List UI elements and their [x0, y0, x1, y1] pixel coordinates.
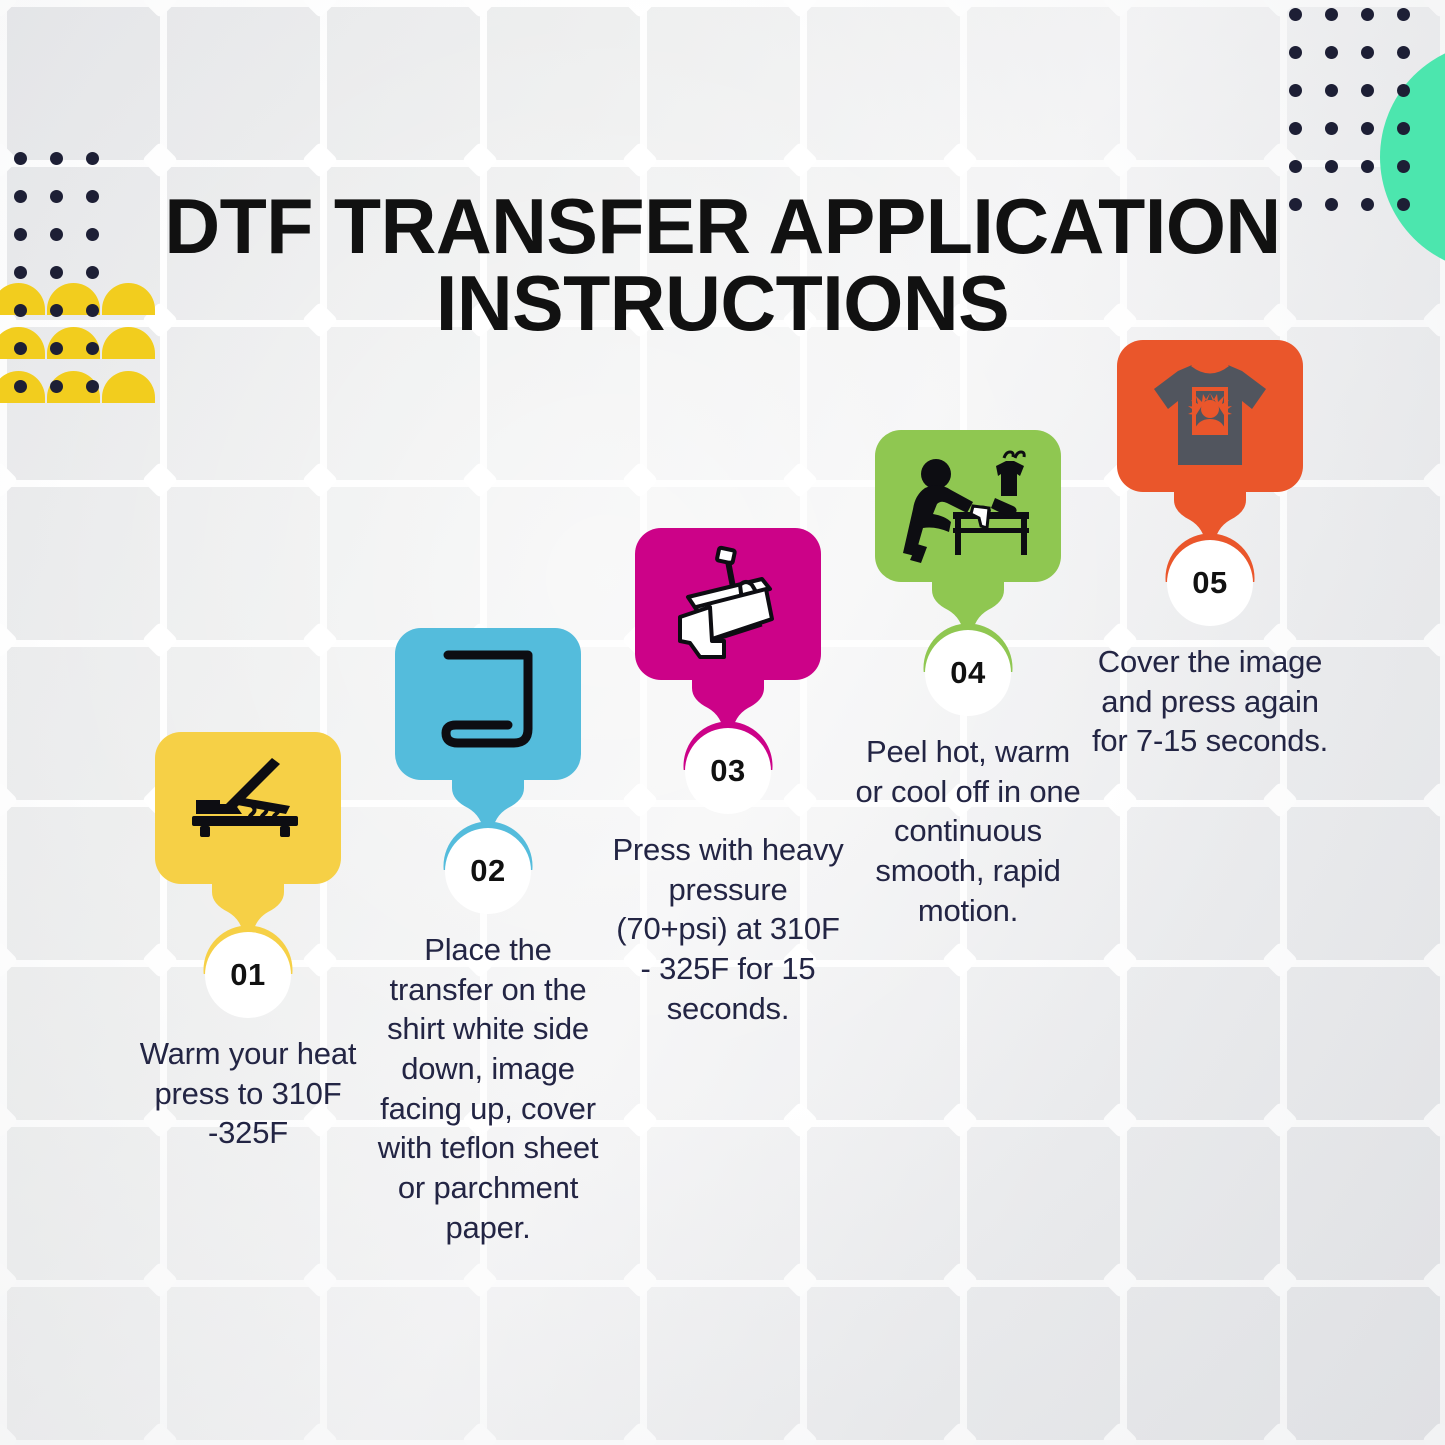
grid-node-diamond [142, 142, 179, 179]
grid-node-diamond [1422, 622, 1445, 659]
grid-node-diamond [942, 0, 979, 18]
decorative-dot [50, 380, 63, 393]
grid-node-diamond [1262, 1262, 1299, 1299]
step-02-badge: 02 [445, 828, 531, 914]
decorative-dot [1289, 84, 1302, 97]
grid-node-diamond [1422, 1262, 1445, 1299]
grid-node-diamond [0, 142, 18, 179]
step-01-card [155, 732, 341, 884]
decorative-dot [14, 380, 27, 393]
grid-node-diamond [1102, 1102, 1139, 1139]
grid-node-diamond [1262, 1102, 1299, 1139]
grid-node-diamond [1422, 1422, 1445, 1445]
grid-node-diamond [1262, 1422, 1299, 1445]
step-03-caption: Press with heavy pressure (70+psi) at 31… [609, 830, 847, 1028]
grid-node-diamond [782, 1262, 819, 1299]
decorative-dot [50, 342, 63, 355]
grid-node-diamond [462, 462, 499, 499]
step-02-caption: Place the transfer on the shirt white si… [369, 930, 607, 1247]
grid-node-diamond [142, 1262, 179, 1299]
grid-node-diamond [0, 1262, 18, 1299]
grid-node-diamond [142, 462, 179, 499]
grid-node-diamond [1102, 1262, 1139, 1299]
decorative-dot [1361, 8, 1374, 21]
step-03-number: 03 [710, 753, 745, 789]
infographic-canvas: DTF TRANSFER APPLICATION INSTRUCTIONS [0, 0, 1445, 1445]
grid-node-diamond [622, 1102, 659, 1139]
grid-node-diamond [1102, 942, 1139, 979]
grid-node-diamond [302, 622, 339, 659]
step-02-number: 02 [470, 853, 505, 889]
step-02-card [395, 628, 581, 780]
transfer-sheet-icon [432, 649, 544, 759]
grid-node-diamond [942, 1262, 979, 1299]
grid-node-diamond [1422, 462, 1445, 499]
grid-node-diamond [462, 142, 499, 179]
grid-node-diamond [302, 142, 339, 179]
decorative-dot [86, 380, 99, 393]
decorative-dot [1325, 122, 1338, 135]
grid-node-diamond [0, 622, 18, 659]
grid-node-diamond [782, 0, 819, 18]
grid-node-diamond [782, 142, 819, 179]
decorative-dot [1289, 8, 1302, 21]
step-01-badge: 01 [205, 932, 291, 1018]
heat-press-machine-icon [666, 545, 790, 663]
heat-press-open-icon [186, 756, 310, 860]
step-04-badge: 04 [925, 630, 1011, 716]
grid-node-diamond [622, 462, 659, 499]
grid-node-diamond [782, 462, 819, 499]
grid-node-diamond [462, 1422, 499, 1445]
grid-node-diamond [302, 1262, 339, 1299]
grid-node-diamond [942, 142, 979, 179]
grid-node-diamond [622, 1422, 659, 1445]
grid-node-diamond [0, 782, 18, 819]
step-02: 02 Place the transfer on the shirt white… [368, 628, 608, 1247]
grid-node-diamond [1262, 142, 1299, 179]
grid-node-diamond [462, 0, 499, 18]
step-01-number: 01 [230, 957, 265, 993]
grid-node-diamond [1262, 942, 1299, 979]
grid-node-diamond [1422, 782, 1445, 819]
grid-node-diamond [462, 1262, 499, 1299]
grid-node-diamond [942, 1102, 979, 1139]
page-title-line-2: INSTRUCTIONS [7, 265, 1438, 342]
grid-node-diamond [622, 1262, 659, 1299]
decorative-dot [1289, 122, 1302, 135]
decorative-dot [1325, 8, 1338, 21]
grid-node-diamond [782, 1102, 819, 1139]
step-03-card [635, 528, 821, 680]
grid-node-diamond [622, 0, 659, 18]
decorative-dot [1325, 84, 1338, 97]
grid-node-diamond [0, 462, 18, 499]
decorative-dot [1361, 122, 1374, 135]
grid-node-diamond [942, 942, 979, 979]
step-04-number: 04 [950, 655, 985, 691]
step-05-number: 05 [1192, 565, 1227, 601]
step-03-badge: 03 [685, 728, 771, 814]
decorative-dot [50, 152, 63, 165]
grid-node-diamond [302, 462, 339, 499]
step-01: 01 Warm your heat press to 310F -325F [128, 732, 368, 1153]
grid-node-diamond [782, 1422, 819, 1445]
decorative-dot [1361, 160, 1374, 173]
step-04-caption: Peel hot, warm or cool off in one contin… [849, 732, 1087, 930]
grid-node-diamond [142, 1422, 179, 1445]
grid-node-diamond [1102, 782, 1139, 819]
grid-node-diamond [1262, 782, 1299, 819]
grid-node-diamond [0, 942, 18, 979]
decorative-dot [1289, 160, 1302, 173]
grid-node-diamond [1102, 1422, 1139, 1445]
semicircle-shape [102, 371, 155, 403]
grid-node-diamond [1422, 0, 1445, 18]
decorative-dot [1397, 46, 1410, 59]
grid-node-diamond [302, 0, 339, 18]
grid-node-diamond [1422, 942, 1445, 979]
grid-node-diamond [1262, 0, 1299, 18]
page-title: DTF TRANSFER APPLICATION INSTRUCTIONS [7, 188, 1438, 342]
semicircle-shape [0, 371, 45, 403]
decorative-dot [14, 152, 27, 165]
step-04: 04 Peel hot, warm or cool off in one con… [848, 430, 1088, 930]
grid-node-diamond [0, 1422, 18, 1445]
step-01-caption: Warm your heat press to 310F -325F [129, 1034, 367, 1153]
peel-transfer-person-icon [903, 448, 1033, 564]
semicircle-row [0, 371, 157, 403]
grid-node-diamond [1102, 0, 1139, 18]
step-04-card [875, 430, 1061, 582]
decorative-dot [1325, 160, 1338, 173]
decorative-dot [86, 152, 99, 165]
grid-node-diamond [0, 0, 18, 18]
page-title-line-1: DTF TRANSFER APPLICATION [7, 188, 1438, 265]
grid-node-diamond [142, 0, 179, 18]
decorative-dot [1361, 46, 1374, 59]
grid-node-diamond [1102, 142, 1139, 179]
printed-tshirt-icon [1148, 357, 1272, 475]
grid-node-diamond [942, 1422, 979, 1445]
step-05-card [1117, 340, 1303, 492]
decorative-dot [1325, 46, 1338, 59]
grid-node-diamond [1422, 1102, 1445, 1139]
semicircle-shape [47, 371, 100, 403]
step-03: 03 Press with heavy pressure (70+psi) at… [608, 528, 848, 1028]
step-05: 05 Cover the image and press again for 7… [1090, 340, 1330, 761]
grid-node-diamond [0, 1102, 18, 1139]
grid-node-diamond [302, 1422, 339, 1445]
step-05-caption: Cover the image and press again for 7-15… [1091, 642, 1329, 761]
step-05-badge: 05 [1167, 540, 1253, 626]
decorative-dot [1289, 46, 1302, 59]
decorative-dot [14, 342, 27, 355]
grid-node-diamond [142, 622, 179, 659]
decorative-dot [1361, 84, 1374, 97]
decorative-dot [1397, 8, 1410, 21]
grid-node-diamond [622, 142, 659, 179]
decorative-dot [86, 342, 99, 355]
